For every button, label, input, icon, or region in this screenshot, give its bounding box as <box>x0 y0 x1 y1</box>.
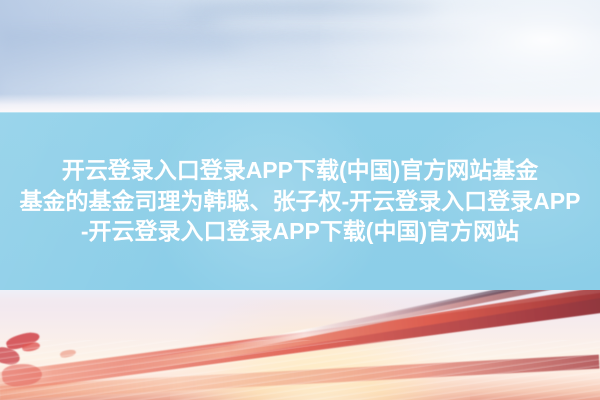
blue-text-band: 开云登录入口登录APP下载(中国)官方网站基金 基金的基金司理为韩聪、张子权-开… <box>0 112 600 290</box>
sunset-spray-texture <box>0 340 600 400</box>
cloud-shape-icon <box>60 8 260 22</box>
sky-horizon-fade <box>0 94 600 112</box>
banner-image: 开云登录入口登录APP下载(中国)官方网站基金 基金的基金司理为韩聪、张子权-开… <box>0 0 600 400</box>
sky-region <box>0 0 600 112</box>
headline-line-2: 基金的基金司理为韩聪、张子权-开云登录入口登录APP <box>20 186 581 216</box>
headline-line-1: 开云登录入口登录APP下载(中国)官方网站基金 <box>62 155 539 185</box>
headline-line-3: -开云登录入口登录APP下载(中国)官方网站 <box>81 216 519 246</box>
sunset-region <box>0 290 600 400</box>
headline-text-block: 开云登录入口登录APP下载(中国)官方网站基金 基金的基金司理为韩聪、张子权-开… <box>0 112 600 290</box>
